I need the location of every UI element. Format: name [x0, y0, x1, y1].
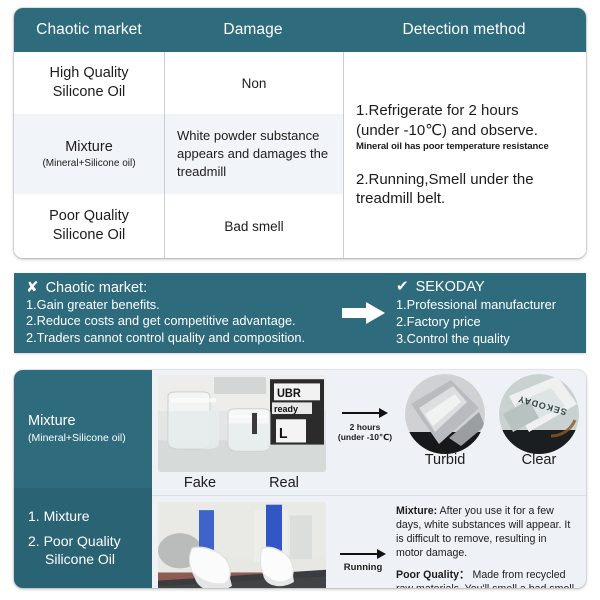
turbid-bottle-photo [405, 374, 485, 454]
result-clear: SEKODAY Clear [492, 370, 586, 495]
banner-arrow [334, 301, 394, 325]
banner-left-item: 2.Traders cannot control quality and com… [26, 330, 334, 347]
product-name: High Quality [50, 64, 129, 83]
result-photos: Turbid SEKODAY [398, 370, 586, 495]
demo-sidebar-list: 1. Mixture 2. Poor Quality Silicone Oil [14, 488, 152, 588]
description-poor-quality: Poor Quality： Made from recycled raw mat… [396, 568, 576, 588]
banner-chaotic-market-block: ✘ Chaotic market: 1.Gain greater benefit… [14, 280, 334, 347]
banner-left-item: 2.Reduce costs and get competitive advan… [26, 313, 334, 330]
result-label-clear: Clear [522, 452, 557, 468]
demonstration-panel: Mixture (Mineral+Silicone oil) 1. Mixtur… [14, 370, 586, 588]
cold-test-arrow-block: 2 hours (under -10℃) [332, 370, 398, 495]
detection-step1-line2: (under -10℃) and observe. [356, 121, 574, 141]
list-item-number: 1. [28, 508, 44, 524]
clear-bottle-photo: SEKODAY [499, 374, 579, 454]
list-item-label: Poor Quality [44, 533, 121, 549]
svg-text:ready: ready [274, 404, 299, 414]
table-row: High Quality Silicone Oil [14, 52, 164, 114]
table-row: Mixture (Mineral+Silicone oil) [14, 114, 164, 194]
banner-left-heading: ✘ Chaotic market: [26, 280, 334, 296]
turbid-bottle-illustration [405, 374, 485, 454]
table-cell-damage: Bad smell [165, 194, 343, 258]
table-cell-damage: White powder substance appears and damag… [165, 114, 343, 194]
beakers-illustration: UBR ready L [158, 375, 326, 472]
list-item-label-line2: Silicone Oil [28, 551, 152, 569]
product-name-line2: Silicone Oil [53, 83, 126, 102]
banner-right-item: 1.Professional manufacturer [396, 296, 586, 313]
treadmill-photo [158, 502, 326, 588]
description-label: Poor Quality： [396, 569, 470, 581]
table-header-damage: Damage [164, 8, 342, 52]
product-subtitle: (Mineral+Silicone oil) [42, 158, 135, 170]
clear-bottle-illustration: SEKODAY [499, 374, 579, 454]
banner-right-item: 3.Control the quality [396, 330, 586, 347]
running-description-block: Mixture: After you use it for a few days… [394, 496, 586, 588]
svg-text:L: L [279, 426, 288, 442]
result-label-turbid: Turbid [425, 452, 466, 468]
banner-left-title: Chaotic market: [46, 280, 148, 296]
check-icon: ✔ [396, 279, 409, 294]
table-column-damage: Non White powder substance appears and d… [165, 52, 344, 258]
banner-right-item: 2.Factory price [396, 313, 586, 330]
right-arrow-icon [339, 548, 387, 560]
table-header-row: Chaotic market Damage Detection method [14, 8, 586, 52]
beakers-photo-block: UBR ready L [152, 370, 332, 495]
demo-sidebar-title: Mixture [28, 413, 152, 430]
detection-step1-line1: 1.Refrigerate for 2 hours [356, 101, 574, 121]
product-name-line2: Silicone Oil [53, 226, 126, 245]
arrow-caption-line2: (under -10℃) [338, 432, 392, 442]
banner-left-item: 1.Gain greater benefits. [26, 297, 334, 314]
demo-sidebar: Mixture (Mineral+Silicone oil) 1. Mixtur… [14, 370, 152, 588]
table-header-detection-method: Detection method [342, 8, 586, 52]
demo-running-row: Running Mixture: After you use it for a … [152, 496, 586, 588]
comparison-table-panel: Chaotic market Damage Detection method H… [14, 8, 586, 258]
running-arrow-caption: Running [344, 562, 383, 573]
damage-text: Bad smell [173, 219, 335, 234]
beaker-label-real: Real [242, 475, 326, 491]
treadmill-illustration [158, 502, 326, 588]
cold-test-arrow-caption: 2 hours (under -10℃) [338, 422, 392, 442]
description-label: Mixture: [396, 505, 437, 517]
description-mixture: Mixture: After you use it for a few days… [396, 504, 576, 560]
demo-sidebar-subtitle: (Mineral+Silicone oil) [28, 432, 152, 445]
table-header-chaotic-market: Chaotic market [14, 8, 164, 52]
table-cell-detection-method: 1.Refrigerate for 2 hours (under -10℃) a… [344, 52, 586, 258]
table-body: High Quality Silicone Oil Mixture (Miner… [14, 52, 586, 258]
detection-step2-line2: treadmill belt. [356, 189, 574, 209]
treadmill-photo-block [152, 496, 332, 588]
right-arrow-icon [342, 301, 386, 325]
arrow-caption-line1: 2 hours [338, 422, 392, 432]
banner-right-heading: ✔ SEKODAY [396, 279, 586, 295]
demo-sidebar-mixture: Mixture (Mineral+Silicone oil) [14, 370, 152, 488]
result-turbid: Turbid [398, 370, 492, 495]
beakers-photo: UBR ready L [158, 375, 326, 472]
spacer [356, 153, 574, 170]
table-cell-damage: Non [165, 52, 343, 114]
comparison-banner: ✘ Chaotic market: 1.Gain greater benefit… [14, 273, 586, 353]
detection-step2-line1: 2.Running,Smell under the [356, 170, 574, 190]
cross-icon: ✘ [26, 280, 39, 295]
banner-right-title: SEKODAY [416, 279, 485, 295]
list-item: 2. Poor Quality Silicone Oil [28, 533, 152, 568]
damage-text: White powder substance appears and damag… [173, 127, 335, 181]
damage-text: Non [173, 76, 335, 91]
svg-text:UBR: UBR [277, 388, 301, 400]
demo-content: UBR ready L [152, 370, 586, 588]
list-item-number: 2. [28, 533, 44, 549]
demo-cold-test-row: UBR ready L [152, 370, 586, 496]
beaker-labels: Fake Real [158, 472, 326, 493]
running-arrow-block: Running [332, 496, 394, 588]
beaker-label-fake: Fake [158, 475, 242, 491]
table-row: Poor Quality Silicone Oil [14, 194, 164, 258]
list-item-label: Mixture [44, 508, 90, 524]
list-item: 1. Mixture [28, 508, 152, 526]
detection-step1-note: Mineral oil has poor temperature resista… [356, 141, 574, 153]
banner-sekoday-block: ✔ SEKODAY 1.Professional manufacturer 2.… [394, 279, 586, 347]
infographic-page: Chaotic market Damage Detection method H… [0, 0, 600, 600]
product-name: Poor Quality [49, 207, 129, 226]
right-arrow-icon [341, 407, 389, 419]
product-name: Mixture [65, 138, 113, 157]
table-column-products: High Quality Silicone Oil Mixture (Miner… [14, 52, 165, 258]
